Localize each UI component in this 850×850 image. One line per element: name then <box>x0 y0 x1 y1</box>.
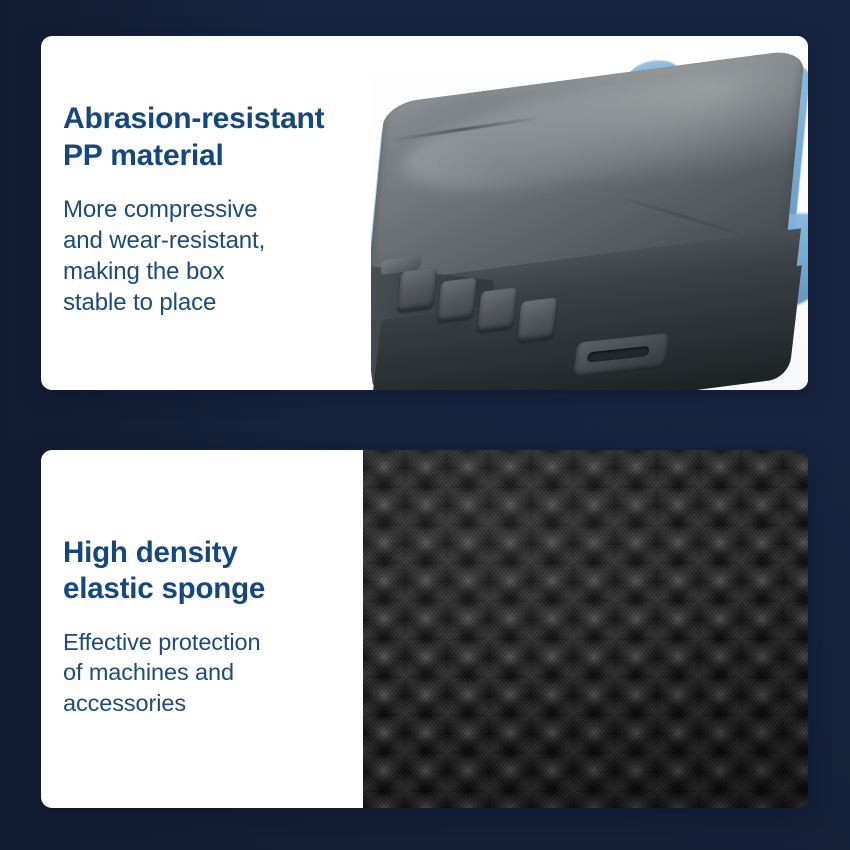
feature-card-pp-material: Abrasion-resistant PP material More comp… <box>41 36 808 390</box>
feature-image-pane <box>371 36 808 390</box>
feature-body-copy: More compressive and wear-resistant, mak… <box>63 194 371 319</box>
hinge-block <box>397 267 437 312</box>
feature-headline: High density elastic sponge <box>63 535 363 606</box>
product-photo-pp-box <box>371 36 808 390</box>
feature-image-pane <box>363 450 808 808</box>
hinge-block <box>517 297 557 342</box>
hinge-block <box>477 287 517 332</box>
sponge-texture-foam <box>363 450 808 808</box>
feature-headline: Abrasion-resistant PP material <box>63 101 371 174</box>
hinge-block <box>437 277 477 322</box>
tool-box-illustration <box>371 42 808 390</box>
feature-card-elastic-sponge: High density elastic sponge Effective pr… <box>41 450 808 808</box>
feature-card-text-pane: Abrasion-resistant PP material More comp… <box>41 36 371 390</box>
feature-card-text-pane: High density elastic sponge Effective pr… <box>41 450 363 808</box>
feature-body-copy: Effective protection of machines and acc… <box>63 627 363 719</box>
product-feature-banner: Abrasion-resistant PP material More comp… <box>0 0 850 850</box>
